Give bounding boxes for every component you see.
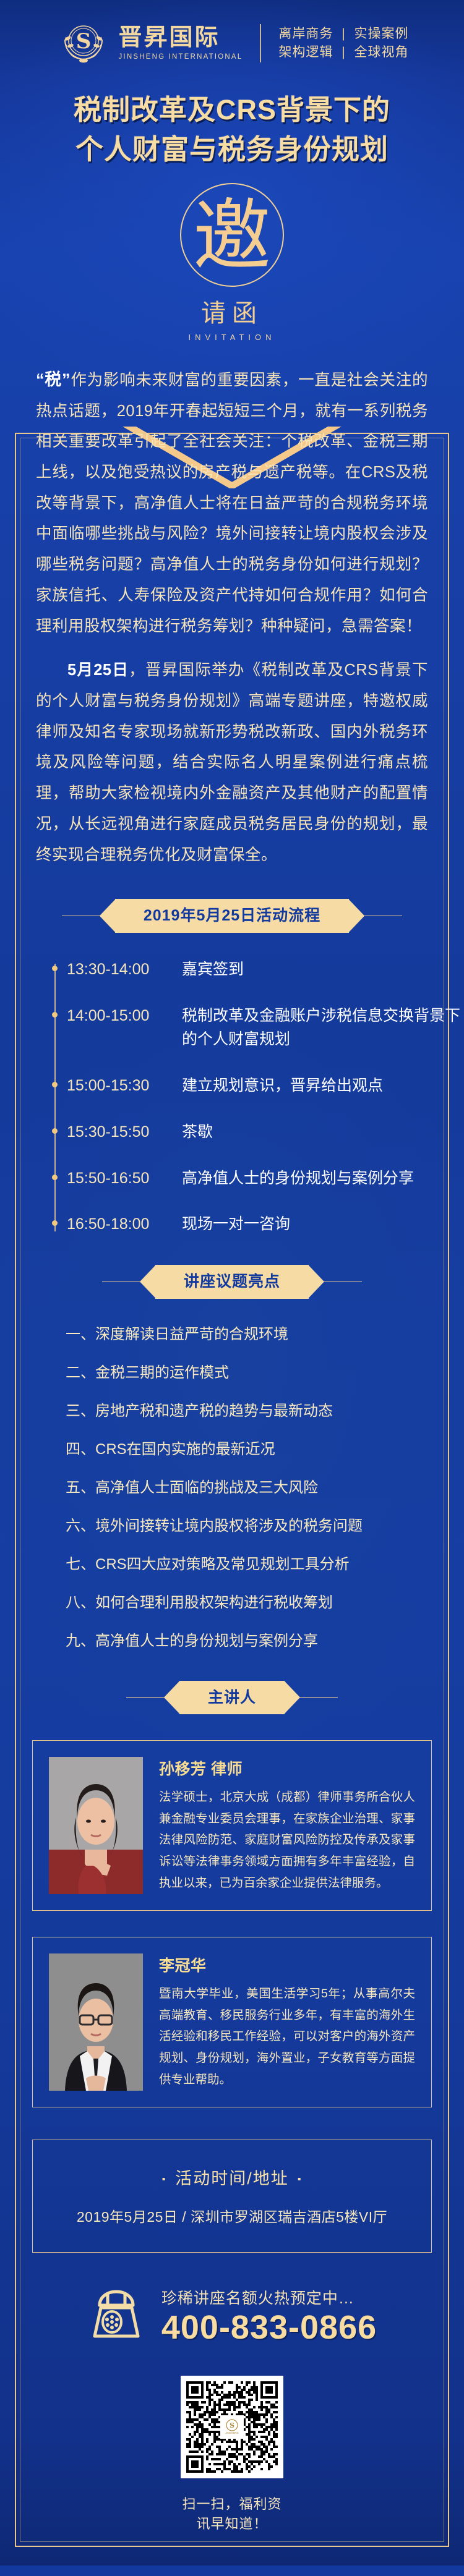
brand-slogan: 离岸商务 | 实操案例 架构逻辑 | 全球视角: [278, 25, 408, 62]
timeline-time: 15:30-15:50: [67, 1120, 182, 1144]
paragraph-1-lead: “税”: [36, 370, 71, 389]
paragraph-2-lead: 5月25日: [67, 661, 129, 679]
timeline-time: 16:50-18:00: [67, 1212, 182, 1236]
slogan-4: 全球视角: [354, 45, 409, 59]
timeline-dot-icon: [52, 1128, 58, 1134]
speaker-info: 孙移芳 律师 法学硕士，北京大成（成都）律师事务所合伙人兼金融专业委员会理事，在…: [159, 1757, 415, 1894]
timeline-row: 13:30-14:00 嘉宾签到: [67, 958, 464, 982]
brand-name-cn: 晋昇国际: [118, 26, 243, 51]
timeline-time: 13:30-14:00: [67, 958, 182, 982]
venue-title: 活动时间/地址: [175, 2169, 289, 2188]
timeline-desc: 建立规划意识，晋昇给出观点: [182, 1074, 383, 1098]
list-item: 七、CRS四大应对策略及常见规划工具分析: [66, 1554, 433, 1576]
timeline-desc: 高净值人士的身份规划与案例分享: [182, 1167, 414, 1191]
brand-name-en: JINSHENG INTERNATIONAL: [118, 53, 243, 61]
timeline-row: 15:50-16:50 高净值人士的身份规划与案例分享: [67, 1167, 464, 1191]
slogan-sep-1: |: [342, 27, 345, 41]
agenda-heading: 讲座议题亮点: [155, 1265, 309, 1299]
venue-title-row: ▪活动时间/地址▪: [45, 2165, 419, 2189]
schedule-section-header: 2019年5月25日活动流程: [0, 899, 464, 933]
schedule-heading: 2019年5月25日活动流程: [115, 899, 349, 933]
paragraph-2-text: ，晋昇国际举办《税制改革及CRS背景下的个人财富与税务身份规划》高端专题讲座，特…: [36, 661, 428, 863]
venue-box: ▪活动时间/地址▪ 2019年5月25日 / 深圳市罗湖区瑞吉酒店5楼VI厅: [32, 2140, 432, 2253]
bullet-icon-right: ▪: [298, 2174, 303, 2185]
speaker-name: 孙移芳 律师: [159, 1757, 415, 1779]
contact-text: 珍稀讲座名额火热预定中… 400-833-0866: [161, 2286, 377, 2347]
speaker-photo: [49, 1953, 143, 2091]
timeline-row: 14:00-15:00 税制改革及金融账户涉税信息交换背景下的个人财富规划: [67, 1004, 464, 1052]
intro-body: “税”作为影响未来财富的重要因素，一直是社会关注的热点话题，2019年开春起短短…: [0, 363, 464, 871]
slogan-2: 实操案例: [354, 27, 409, 41]
brand-text-block: 晋昇国际 JINSHENG INTERNATIONAL: [118, 26, 243, 61]
timeline-desc: 现场一对一咨询: [182, 1212, 290, 1236]
bottom-spacer: [0, 2533, 464, 2576]
timeline-dot-icon: [52, 1082, 58, 1087]
agenda-list: 一、深度解读日益严苛的合规环境 二、金税三期的运作模式 三、房地产税和遗产税的趋…: [0, 1324, 464, 1652]
agenda-section-header: 讲座议题亮点: [0, 1265, 464, 1299]
timeline-row: 15:30-15:50 茶歇: [67, 1120, 464, 1144]
list-item: 四、CRS在国内实施的最新近况: [66, 1439, 433, 1461]
speakers-section-header: 主讲人: [0, 1681, 464, 1715]
qr-code[interactable]: S JINSHENG: [181, 2376, 283, 2478]
timeline-time: 15:50-16:50: [67, 1167, 182, 1191]
timeline-desc: 茶歇: [182, 1120, 213, 1144]
qr-block: S JINSHENG 扫一扫，福利资讯早知道！: [181, 2376, 283, 2533]
contact-block: 珍稀讲座名额火热预定中… 400-833-0866: [0, 2286, 464, 2347]
timeline-row: 15:00-15:30 建立规划意识，晋昇给出观点: [67, 1074, 464, 1098]
poster-title: 税制改革及CRS背景下的 个人财富与税务身份规划: [0, 87, 464, 169]
list-item: 九、高净值人士的身份规划与案例分享: [66, 1630, 433, 1652]
title-line-2: 个人财富与税务身份规划: [0, 130, 464, 169]
timeline-dot-icon: [52, 1175, 58, 1180]
list-item: 五、高净值人士面临的挑战及三大风险: [66, 1477, 433, 1499]
slogan-sep-2: |: [342, 45, 345, 59]
seal-en-label: INVITATION: [0, 333, 464, 342]
qr-caption: 扫一扫，福利资讯早知道！: [181, 2493, 283, 2533]
crest-logo-icon: S: [55, 15, 112, 72]
logo-lockup: S 晋昇国际 JINSHENG INTERNATIONAL: [55, 15, 243, 72]
contact-phone-number[interactable]: 400-833-0866: [161, 2308, 377, 2347]
timeline-time: 14:00-15:00: [67, 1004, 182, 1028]
speaker-info: 李冠华 暨南大学毕业，美国生活学习5年；从事高尔夫高端教育、移民服务行业多年，有…: [159, 1953, 415, 2091]
header-divider: [260, 24, 261, 62]
list-item: 三、房地产税和遗产税的趋势与最新动态: [66, 1400, 433, 1422]
seal-circle-icon: 邀: [180, 183, 284, 287]
brand-header: S 晋昇国际 JINSHENG INTERNATIONAL 离岸商务 | 实操案…: [0, 0, 464, 87]
invitation-seal: 邀 请函 INVITATION: [0, 183, 464, 350]
qr-center-logo-icon: S JINSHENG: [220, 2415, 244, 2439]
slogan-3: 架构逻辑: [278, 45, 333, 59]
speaker-card: 孙移芳 律师 法学硕士，北京大成（成都）律师事务所合伙人兼金融专业委员会理事，在…: [32, 1740, 432, 1911]
speaker-bio: 暨南大学毕业，美国生活学习5年；从事高尔夫高端教育、移民服务行业多年，有丰富的海…: [159, 1983, 415, 2091]
seal-subtitle: 请函: [0, 293, 464, 329]
title-line-1: 税制改革及CRS背景下的: [0, 90, 464, 130]
svg-text:JINSHENG: JINSHENG: [225, 2431, 238, 2434]
poster-root: S 晋昇国际 JINSHENG INTERNATIONAL 离岸商务 | 实操案…: [0, 0, 464, 2565]
list-item: 二、金税三期的运作模式: [66, 1362, 433, 1384]
speaker-card: 李冠华 暨南大学毕业，美国生活学习5年；从事高尔夫高端教育、移民服务行业多年，有…: [32, 1937, 432, 2107]
svg-text:S: S: [76, 29, 92, 54]
speaker-photo: [49, 1757, 143, 1894]
timeline-time: 15:00-15:30: [67, 1074, 182, 1098]
venue-datetime-address: 2019年5月25日 / 深圳市罗湖区瑞吉酒店5楼VI厅: [45, 2205, 419, 2226]
speaker-name: 李冠华: [159, 1953, 415, 1976]
slogan-1: 离岸商务: [278, 27, 333, 41]
timeline-dot-icon: [52, 1220, 58, 1226]
speakers-heading: 主讲人: [179, 1681, 285, 1715]
speaker-bio: 法学硕士，北京大成（成都）律师事务所合伙人兼金融专业委员会理事，在家族企业治理、…: [159, 1787, 415, 1894]
list-item: 六、境外间接转让境内股权将涉及的税务问题: [66, 1515, 433, 1537]
telephone-icon: [87, 2287, 145, 2346]
seal-char: 邀: [193, 197, 271, 275]
contact-tagline: 珍稀讲座名额火热预定中…: [161, 2286, 377, 2308]
timeline-desc: 嘉宾签到: [182, 958, 244, 982]
timeline-dot-icon: [52, 966, 58, 971]
svg-text:S: S: [230, 2421, 234, 2429]
paragraph-1-text: 作为影响未来财富的重要因素，一直是社会关注的热点话题，2019年开春起短短三个月…: [36, 372, 428, 635]
timeline-spine: [54, 964, 56, 1231]
list-item: 一、深度解读日益严苛的合规环境: [66, 1324, 433, 1346]
paragraph-2: 5月25日，晋昇国际举办《税制改革及CRS背景下的个人财富与税务身份规划》高端专…: [36, 655, 428, 870]
timeline-desc: 税制改革及金融账户涉税信息交换背景下的个人财富规划: [182, 1004, 464, 1052]
paragraph-1: “税”作为影响未来财富的重要因素，一直是社会关注的热点话题，2019年开春起短短…: [36, 363, 428, 642]
schedule-timeline: 13:30-14:00 嘉宾签到 14:00-15:00 税制改革及金融账户涉税…: [0, 958, 464, 1236]
list-item: 八、如何合理利用股权架构进行税收筹划: [66, 1592, 433, 1614]
bullet-icon-left: ▪: [162, 2174, 167, 2185]
timeline-row: 16:50-18:00 现场一对一咨询: [67, 1212, 464, 1236]
timeline-dot-icon: [52, 1012, 58, 1018]
